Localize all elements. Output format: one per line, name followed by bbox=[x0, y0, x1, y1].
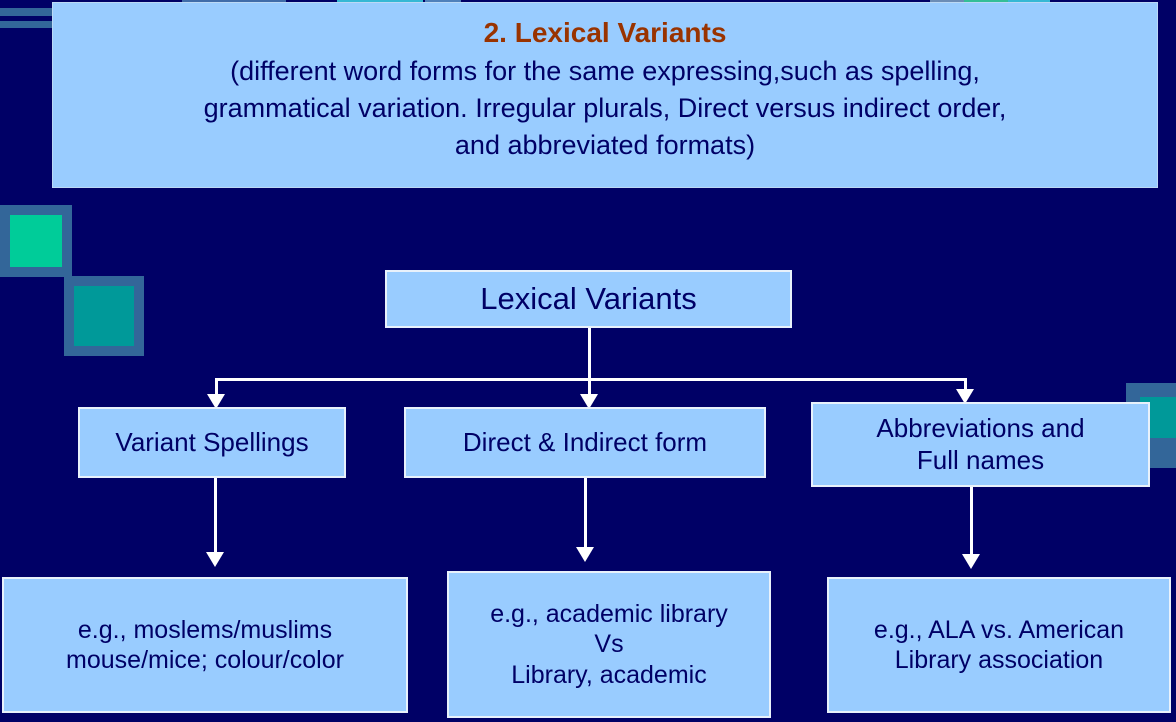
page-title: 2. Lexical Variants bbox=[53, 13, 1157, 53]
example-text-3: e.g., ALA vs. American Library associati… bbox=[874, 615, 1124, 676]
title-description-line-3: and abbreviated formats) bbox=[65, 127, 1145, 164]
decorative-bar-top-a bbox=[0, 8, 52, 16]
decorative-bar-top-b bbox=[0, 21, 52, 28]
slide-canvas: 2. Lexical Variants (different word form… bbox=[0, 0, 1176, 722]
arrowhead-example-2 bbox=[576, 547, 594, 562]
diagram-node-variant-spellings: Variant Spellings bbox=[78, 407, 346, 478]
arrowhead-example-3 bbox=[962, 554, 980, 569]
example-3-line-1: e.g., ALA vs. American bbox=[874, 615, 1124, 646]
abbrev-label-line-1: Abbreviations and bbox=[876, 413, 1084, 445]
diagram-node-root-label: Lexical Variants bbox=[480, 280, 697, 318]
connector-branch-2-to-example bbox=[584, 478, 587, 550]
decorative-bar-gap bbox=[6, 17, 52, 20]
connector-horizontal-bus bbox=[215, 378, 967, 381]
diagram-example-abbreviations: e.g., ALA vs. American Library associati… bbox=[827, 577, 1171, 713]
diagram-node-variant-spellings-label: Variant Spellings bbox=[115, 427, 308, 459]
example-2-line-2: Vs bbox=[490, 629, 728, 660]
diagram-node-root: Lexical Variants bbox=[385, 270, 792, 328]
example-3-line-2: Library association bbox=[874, 645, 1124, 676]
diagram-node-direct-indirect-form: Direct & Indirect form bbox=[404, 407, 766, 478]
title-description-line-2: grammatical variation. Irregular plurals… bbox=[65, 90, 1145, 127]
example-1-line-2: mouse/mice; colour/color bbox=[66, 645, 344, 676]
diagram-node-abbreviations-full-names: Abbreviations and Full names bbox=[811, 402, 1150, 487]
example-2-line-3: Library, academic bbox=[490, 660, 728, 691]
connector-branch-1-to-example bbox=[214, 478, 217, 555]
example-text-1: e.g., moslems/muslims mouse/mice; colour… bbox=[66, 615, 344, 676]
example-1-line-1: e.g., moslems/muslims bbox=[66, 615, 344, 646]
connector-root-stem bbox=[588, 328, 591, 380]
title-banner: 2. Lexical Variants (different word form… bbox=[52, 2, 1158, 188]
title-description: (different word forms for the same expre… bbox=[53, 53, 1157, 165]
diagram-example-variant-spellings: e.g., moslems/muslims mouse/mice; colour… bbox=[2, 577, 408, 713]
connector-branch-3-to-example bbox=[970, 487, 973, 557]
diagram-node-abbreviations-full-names-label: Abbreviations and Full names bbox=[876, 413, 1084, 476]
diagram-example-direct-indirect: e.g., academic library Vs Library, acade… bbox=[447, 571, 771, 718]
decorative-square-teal bbox=[64, 276, 144, 356]
diagram-node-direct-indirect-form-label: Direct & Indirect form bbox=[463, 427, 707, 459]
decorative-square-green bbox=[0, 205, 72, 277]
example-text-2: e.g., academic library Vs Library, acade… bbox=[490, 599, 728, 691]
arrowhead-example-1 bbox=[206, 552, 224, 567]
example-2-line-1: e.g., academic library bbox=[490, 599, 728, 630]
title-description-line-1: (different word forms for the same expre… bbox=[65, 53, 1145, 90]
abbrev-label-line-2: Full names bbox=[876, 445, 1084, 477]
